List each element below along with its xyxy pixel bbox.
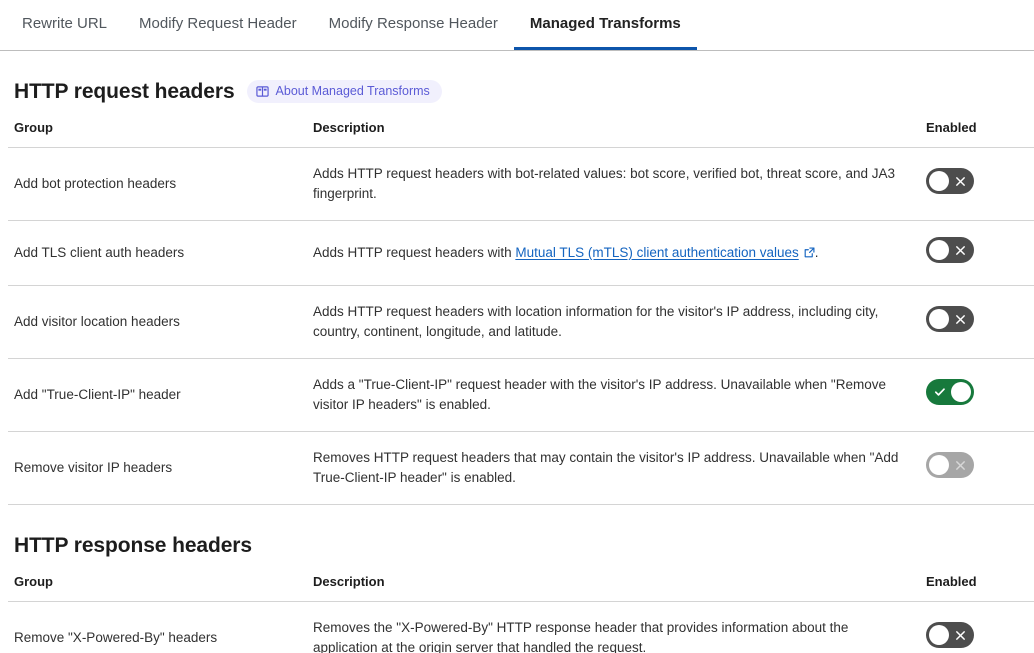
close-icon	[953, 622, 967, 648]
tab-modify-response-header[interactable]: Modify Response Header	[313, 0, 514, 50]
tab-managed-transforms[interactable]: Managed Transforms	[514, 0, 697, 50]
row-description-text: Adds HTTP request headers with location …	[313, 302, 913, 342]
description-suffix: .	[815, 245, 819, 260]
toggle-add-visitor-location-headers[interactable]	[926, 306, 974, 332]
page-title-response-headers: HTTP response headers	[14, 533, 252, 558]
row-enabled-cell	[926, 221, 1034, 286]
toggle-knob	[929, 625, 949, 645]
close-icon	[953, 237, 967, 263]
close-icon	[953, 168, 967, 194]
check-icon	[933, 379, 947, 405]
book-icon	[256, 85, 269, 98]
toggle-add-tls-client-auth-headers[interactable]	[926, 237, 974, 263]
row-description: Removes HTTP request headers that may co…	[313, 432, 926, 505]
row-enabled-cell	[926, 602, 1034, 653]
toggle-knob	[929, 240, 949, 260]
toggle-knob	[929, 171, 949, 191]
section-header-request: HTTP request headers About Managed Trans…	[8, 51, 1026, 116]
row-enabled-cell	[926, 148, 1034, 221]
column-header-enabled: Enabled	[926, 116, 1034, 148]
toggle-knob	[951, 382, 971, 402]
row-group-true-client-ip: Add "True-Client-IP" header	[8, 359, 313, 432]
table-row: Add visitor location headers Adds HTTP r…	[8, 286, 1034, 359]
row-description-text: Adds a "True-Client-IP" request header w…	[313, 375, 913, 415]
row-description: Removes the "X-Powered-By" HTTP response…	[313, 602, 926, 653]
row-group-tls-client-auth: Add TLS client auth headers	[8, 221, 313, 286]
section-http-response-headers: HTTP response headers Group Description …	[0, 505, 1034, 653]
mtls-client-authentication-values-link[interactable]: Mutual TLS (mTLS) client authentication …	[515, 245, 814, 260]
toggle-add-bot-protection-headers[interactable]	[926, 168, 974, 194]
about-managed-transforms-label: About Managed Transforms	[276, 84, 430, 99]
close-icon	[953, 452, 967, 478]
tab-rewrite-url[interactable]: Rewrite URL	[6, 0, 123, 50]
row-description-text: Removes HTTP request headers that may co…	[313, 448, 913, 488]
section-http-request-headers: HTTP request headers About Managed Trans…	[0, 51, 1034, 505]
row-description: Adds HTTP request headers with Mutual TL…	[313, 221, 926, 286]
row-enabled-cell	[926, 359, 1034, 432]
column-header-description: Description	[313, 570, 926, 602]
description-prefix: Adds HTTP request headers with	[313, 245, 515, 260]
external-link-icon	[804, 244, 815, 264]
row-enabled-cell	[926, 432, 1034, 505]
table-row: Add bot protection headers Adds HTTP req…	[8, 148, 1034, 221]
column-header-enabled: Enabled	[926, 570, 1034, 602]
row-description: Adds HTTP request headers with bot-relat…	[313, 148, 926, 221]
link-label: Mutual TLS (mTLS) client authentication …	[515, 245, 798, 260]
row-description-text: Removes the "X-Powered-By" HTTP response…	[313, 618, 913, 653]
row-group-visitor-location: Add visitor location headers	[8, 286, 313, 359]
row-group-remove-x-powered-by: Remove "X-Powered-By" headers	[8, 602, 313, 653]
row-description: Adds HTTP request headers with location …	[313, 286, 926, 359]
row-description: Adds a "True-Client-IP" request header w…	[313, 359, 926, 432]
tab-modify-request-header[interactable]: Modify Request Header	[123, 0, 313, 50]
managed-transforms-response-table: Group Description Enabled Remove "X-Powe…	[8, 570, 1034, 653]
toggle-add-true-client-ip-header[interactable]	[926, 379, 974, 405]
managed-transforms-request-table: Group Description Enabled Add bot protec…	[8, 116, 1034, 505]
row-enabled-cell	[926, 286, 1034, 359]
column-header-group: Group	[8, 570, 313, 602]
close-icon	[953, 306, 967, 332]
column-header-description: Description	[313, 116, 926, 148]
row-group-remove-visitor-ip: Remove visitor IP headers	[8, 432, 313, 505]
row-group-bot-protection: Add bot protection headers	[8, 148, 313, 221]
section-header-response: HTTP response headers	[8, 505, 1026, 570]
page-title-request-headers: HTTP request headers	[14, 79, 235, 104]
toggle-remove-x-powered-by-headers[interactable]	[926, 622, 974, 648]
table-header-row: Group Description Enabled	[8, 570, 1034, 602]
table-row: Add TLS client auth headers Adds HTTP re…	[8, 221, 1034, 286]
row-description-text: Adds HTTP request headers with Mutual TL…	[313, 243, 913, 264]
table-header-row: Group Description Enabled	[8, 116, 1034, 148]
column-header-group: Group	[8, 116, 313, 148]
table-row: Remove visitor IP headers Removes HTTP r…	[8, 432, 1034, 505]
table-row: Remove "X-Powered-By" headers Removes th…	[8, 602, 1034, 653]
page-content: HTTP request headers About Managed Trans…	[0, 51, 1034, 653]
table-row: Add "True-Client-IP" header Adds a "True…	[8, 359, 1034, 432]
toggle-knob	[929, 309, 949, 329]
toggle-knob	[929, 455, 949, 475]
about-managed-transforms-badge[interactable]: About Managed Transforms	[247, 80, 442, 103]
tab-bar: Rewrite URL Modify Request Header Modify…	[0, 0, 1034, 51]
row-description-text: Adds HTTP request headers with bot-relat…	[313, 164, 913, 204]
toggle-remove-visitor-ip-headers	[926, 452, 974, 478]
